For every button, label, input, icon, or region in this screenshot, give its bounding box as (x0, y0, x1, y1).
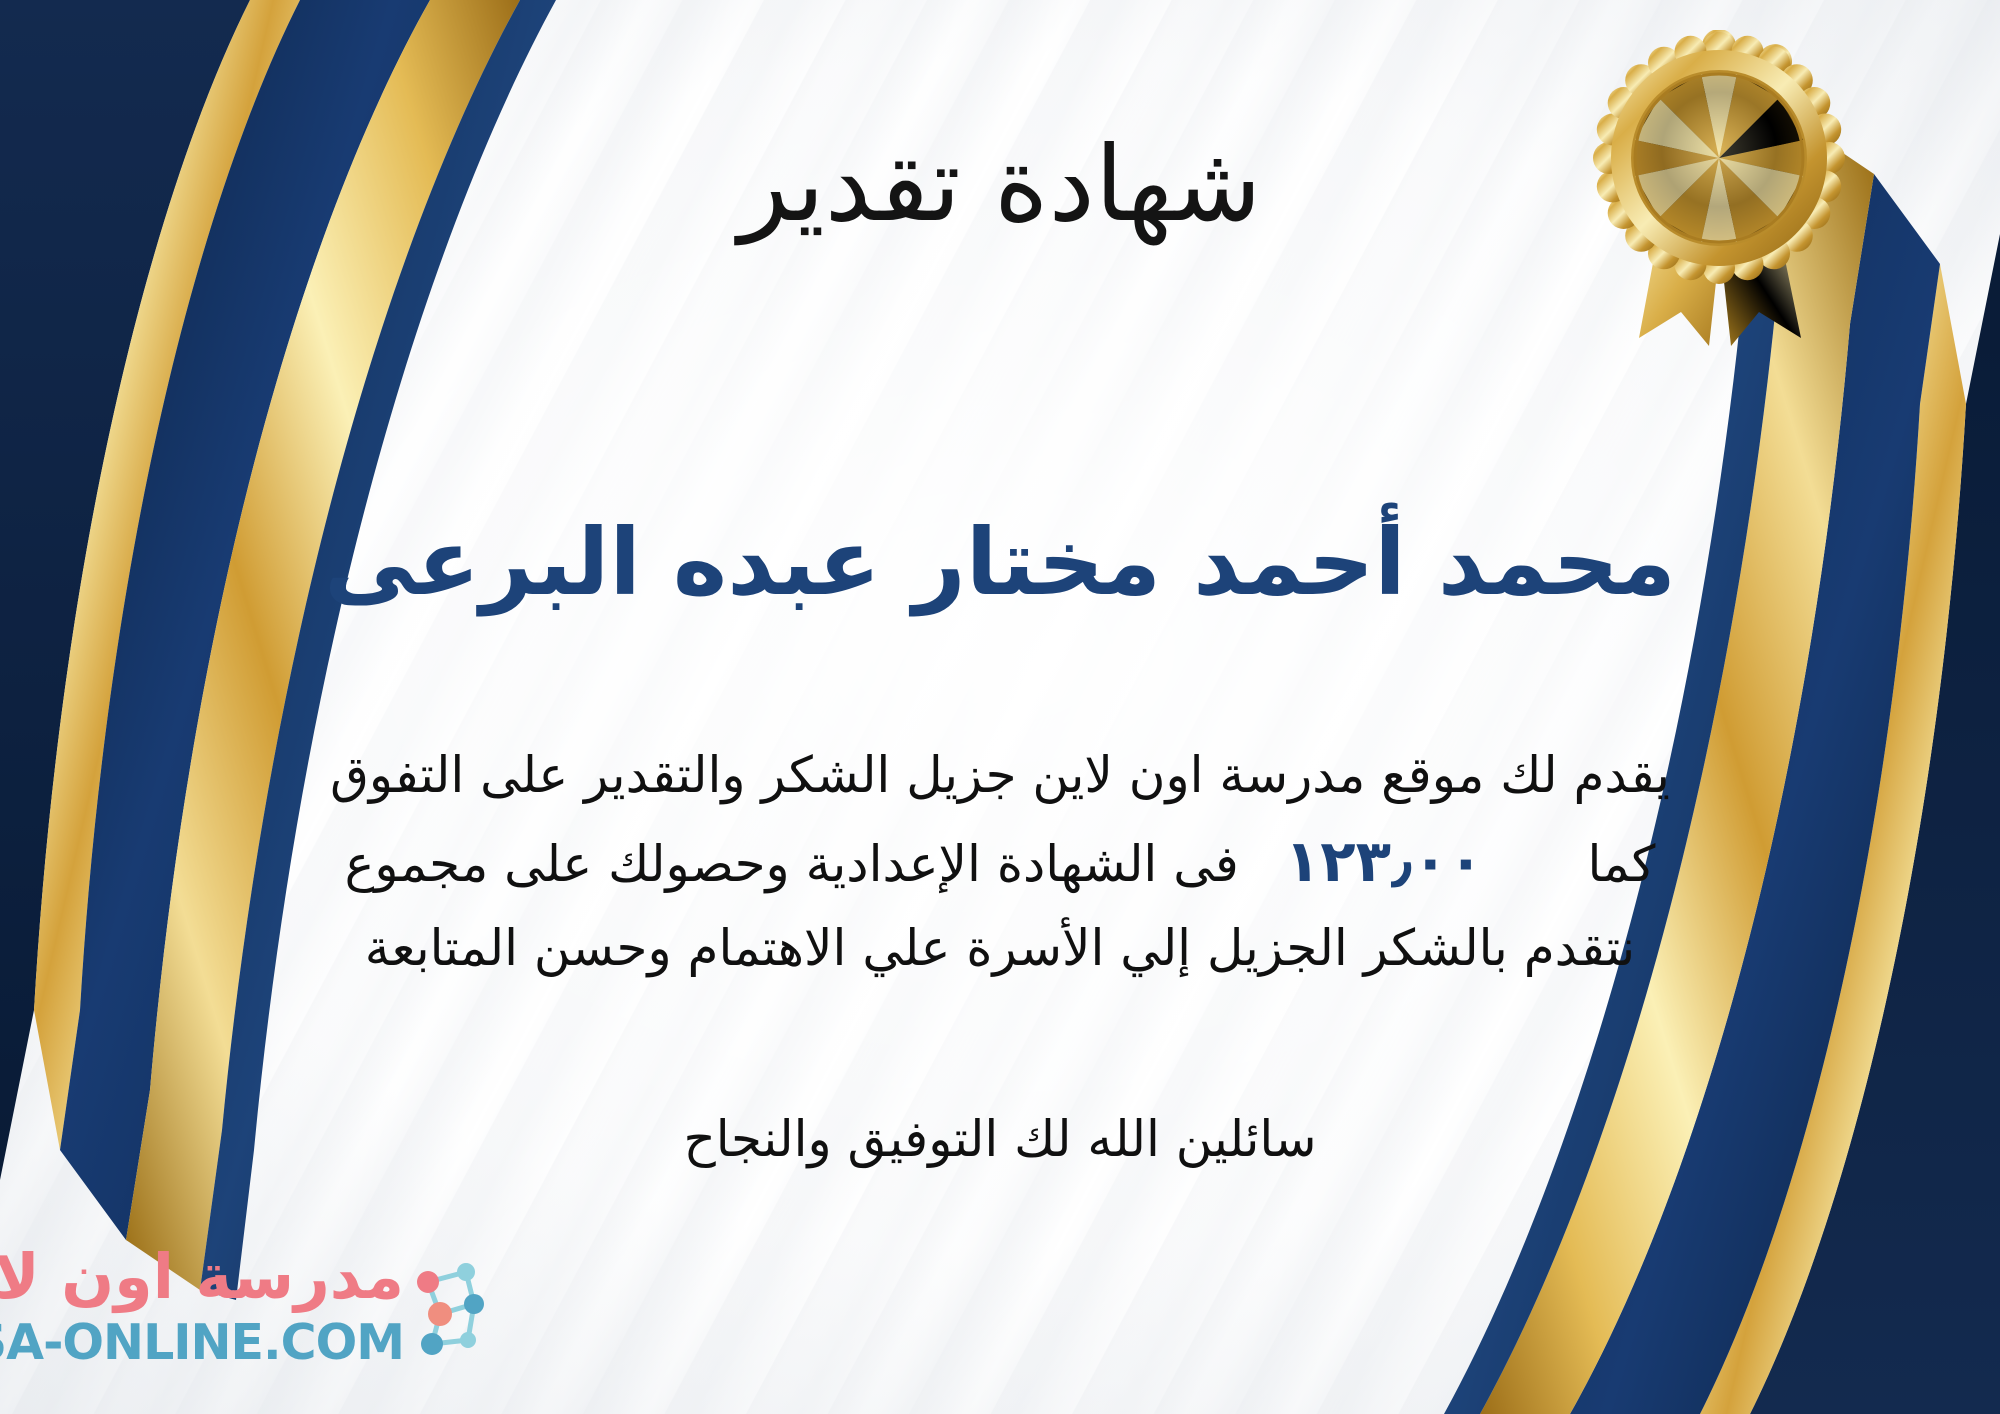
body-line-2-suffix: كما (1587, 824, 1655, 904)
body-line-2-prefix: فى الشهادة الإعدادية وحصولك على مجموع (345, 824, 1239, 904)
certificate-content: شهادة تقدير محمد أحمد مختار عبده البرعى … (0, 0, 2000, 1414)
site-logo[interactable]: مدرسة اون لاين MADRSA-ONLINE.COM (22, 1242, 492, 1392)
student-name: محمد أحمد مختار عبده البرعى (0, 512, 2000, 613)
certificate-canvas: شهادة تقدير محمد أحمد مختار عبده البرعى … (0, 0, 2000, 1414)
logo-arabic-text: مدرسة اون لاين (0, 1246, 404, 1308)
certificate-body-text: يقدم لك موقع مدرسة اون لاين جزيل الشكر و… (60, 735, 1940, 988)
body-line-3: نتقدم بالشكر الجزيل إلي الأسرة علي الاهت… (60, 908, 1940, 988)
grade-value: ١٢٣٫٠٠ (1239, 815, 1530, 908)
body-line-1: يقدم لك موقع مدرسة اون لاين جزيل الشكر و… (60, 735, 1940, 815)
logo-domain-text: MADRSA-ONLINE.COM (0, 1318, 404, 1367)
molecule-network-icon (406, 1252, 492, 1364)
closing-wish: سائلين الله لك التوفيق والنجاح (0, 1110, 2000, 1168)
certificate-title: شهادة تقدير (0, 130, 2000, 239)
body-line-2: كما ١٢٣٫٠٠ فى الشهادة الإعدادية وحصولك ع… (60, 815, 1940, 908)
